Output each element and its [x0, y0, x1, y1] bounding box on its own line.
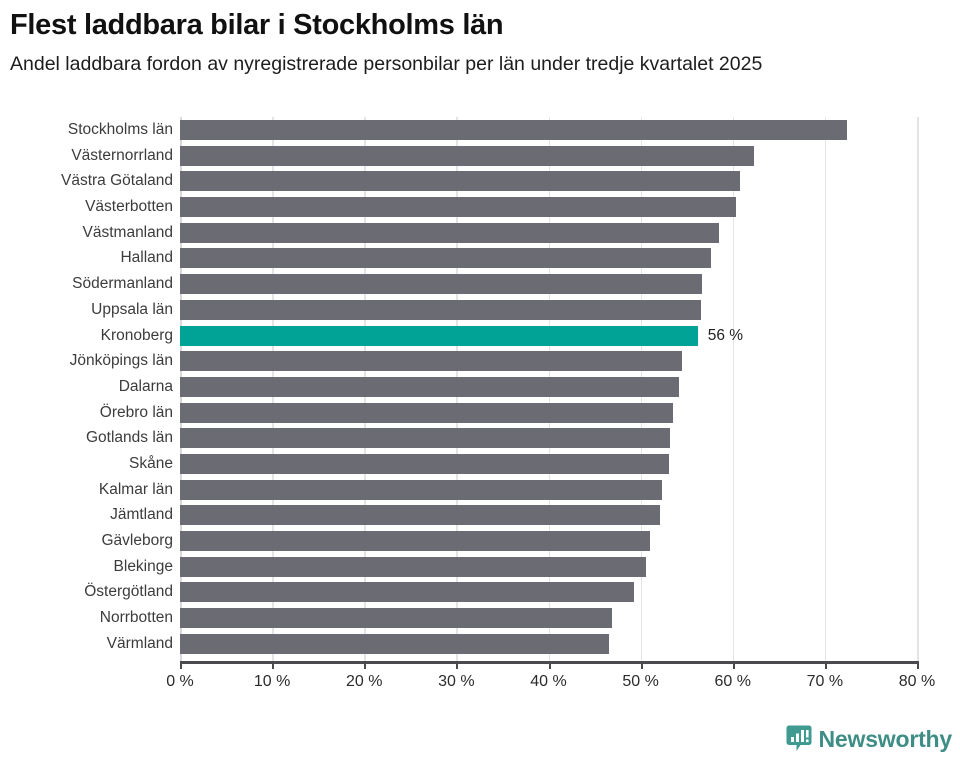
x-tick-label: 80 % — [899, 673, 935, 691]
bar-category-label: Södermanland — [72, 271, 173, 297]
bar-row: Östergötland — [0, 579, 960, 605]
x-tick — [272, 661, 274, 669]
x-tick — [641, 661, 643, 669]
bar-highlighted — [180, 326, 698, 346]
bar-row: Halland — [0, 245, 960, 271]
bar — [180, 248, 711, 268]
bar-category-label: Västmanland — [83, 220, 173, 246]
x-tick-label: 10 % — [254, 673, 290, 691]
bar-row: Västernorrland — [0, 143, 960, 169]
bar — [180, 403, 673, 423]
bar — [180, 274, 702, 294]
bar-category-label: Uppsala län — [91, 297, 173, 323]
bar-row: Dalarna — [0, 374, 960, 400]
bar-category-label: Värmland — [107, 631, 173, 657]
bar-row: Norrbotten — [0, 605, 960, 631]
bar — [180, 146, 754, 166]
chart-bubble-icon — [786, 725, 812, 752]
bar-row: Gävleborg — [0, 528, 960, 554]
bar-category-label: Västerbotten — [85, 194, 173, 220]
chart-header: Flest laddbara bilar i Stockholms län An… — [0, 0, 960, 77]
chart-plot-area: Stockholms länVästernorrlandVästra Götal… — [0, 110, 960, 710]
bar-row: Kalmar län — [0, 477, 960, 503]
bar-category-label: Stockholms län — [68, 117, 173, 143]
x-tick-label: 0 % — [166, 673, 194, 691]
bar-row: Västmanland — [0, 220, 960, 246]
bar-category-label: Örebro län — [100, 400, 173, 426]
bar-series: Stockholms länVästernorrlandVästra Götal… — [0, 117, 960, 656]
x-tick — [825, 661, 827, 669]
bar-category-label: Jönköpings län — [70, 348, 173, 374]
x-tick — [364, 661, 366, 669]
x-tick-label: 20 % — [346, 673, 382, 691]
bar-category-label: Kalmar län — [99, 477, 173, 503]
bar-category-label: Gotlands län — [86, 425, 173, 451]
bar-category-label: Jämtland — [110, 502, 173, 528]
bar-category-label: Norrbotten — [100, 605, 173, 631]
bar — [180, 505, 660, 525]
x-tick — [917, 661, 919, 669]
bar — [180, 197, 736, 217]
bar-row: Västerbotten — [0, 194, 960, 220]
bar-value-label: 56 % — [708, 323, 743, 349]
bar — [180, 120, 847, 140]
bar — [180, 480, 662, 500]
x-tick-label: 40 % — [530, 673, 566, 691]
bar — [180, 428, 670, 448]
bar-row: Gotlands län — [0, 425, 960, 451]
footer-branding[interactable]: Newsworthy — [786, 725, 952, 752]
bar — [180, 557, 646, 577]
x-tick — [180, 661, 182, 669]
bar-row: Värmland — [0, 631, 960, 657]
x-tick-label: 60 % — [715, 673, 751, 691]
brand-name: Newsworthy — [819, 726, 952, 752]
bar-category-label: Gävleborg — [101, 528, 173, 554]
bar-category-label: Dalarna — [119, 374, 173, 400]
bar — [180, 377, 679, 397]
bar — [180, 608, 612, 628]
bar-category-label: Östergötland — [84, 579, 173, 605]
bar-row: Jämtland — [0, 502, 960, 528]
page-title: Flest laddbara bilar i Stockholms län — [10, 8, 950, 42]
x-tick — [456, 661, 458, 669]
x-tick — [549, 661, 551, 669]
x-tick-label: 30 % — [438, 673, 474, 691]
bar — [180, 351, 682, 371]
x-tick-label: 70 % — [807, 673, 843, 691]
bar-row: Jönköpings län — [0, 348, 960, 374]
bar-category-label: Västernorrland — [71, 143, 173, 169]
bar — [180, 223, 719, 243]
bar — [180, 634, 609, 654]
bar-row: Skåne — [0, 451, 960, 477]
bar-row: Västra Götaland — [0, 168, 960, 194]
bar — [180, 171, 740, 191]
bar — [180, 531, 650, 551]
bar-row: Uppsala län — [0, 297, 960, 323]
bar-category-label: Västra Götaland — [61, 168, 173, 194]
bar — [180, 454, 669, 474]
bar-category-label: Skåne — [129, 451, 173, 477]
bar-row: Kronoberg56 % — [0, 323, 960, 349]
chart-page: Flest laddbara bilar i Stockholms län An… — [0, 0, 960, 760]
bar-category-label: Halland — [120, 245, 173, 271]
chart-subtitle: Andel laddbara fordon av nyregistrerade … — [10, 51, 950, 77]
bar-row: Stockholms län — [0, 117, 960, 143]
bar — [180, 300, 701, 320]
bar — [180, 582, 634, 602]
bar-row: Örebro län — [0, 400, 960, 426]
bar-category-label: Blekinge — [114, 554, 173, 580]
x-tick — [733, 661, 735, 669]
x-tick-label: 50 % — [622, 673, 658, 691]
bar-row: Södermanland — [0, 271, 960, 297]
bar-category-label: Kronoberg — [101, 323, 173, 349]
bar-row: Blekinge — [0, 554, 960, 580]
